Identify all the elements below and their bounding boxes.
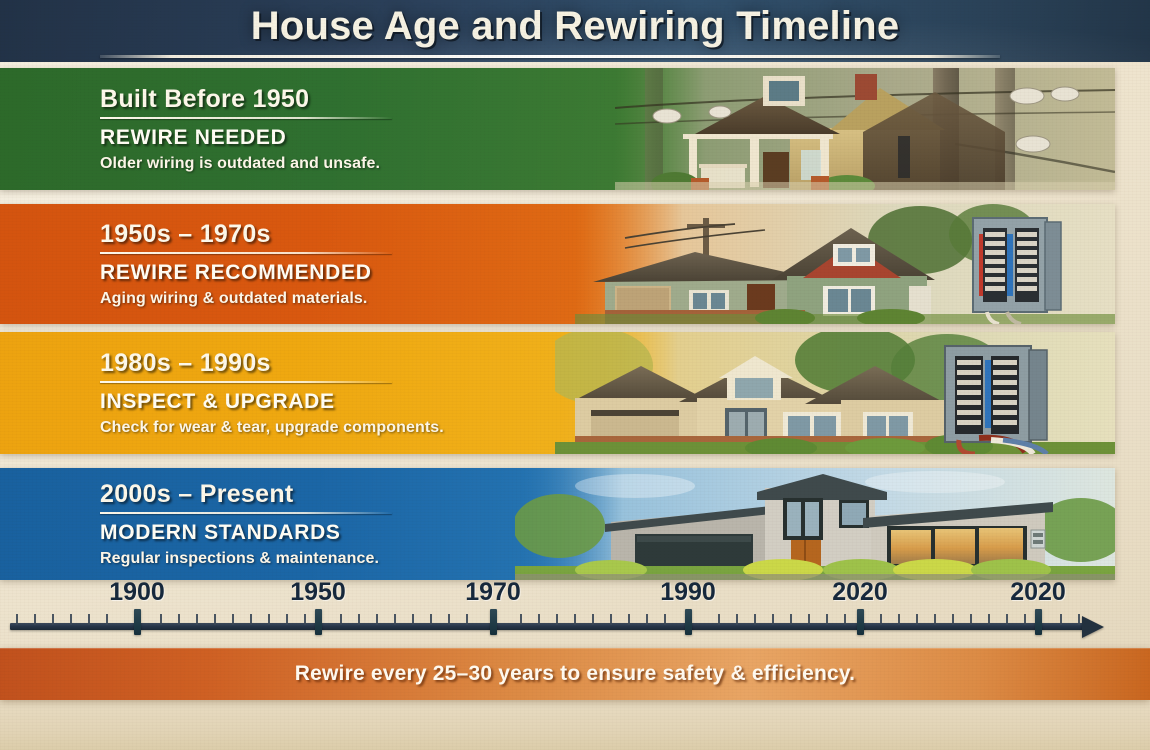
- band-text-pre-1950: Built Before 1950 REWIRE NEEDED Older wi…: [100, 68, 620, 190]
- axis-tick-minor: [52, 614, 54, 625]
- axis-arrow-icon: [1082, 616, 1104, 638]
- band-era-label: Built Before 1950: [100, 85, 620, 114]
- axis-tick-minor: [610, 614, 612, 625]
- axis-tick-minor: [340, 614, 342, 625]
- axis-tick-minor: [880, 614, 882, 625]
- timeline-band-2000s-present: 2000s – Present MODERN STANDARDS Regular…: [0, 468, 1115, 580]
- axis-tick-minor: [286, 614, 288, 625]
- axis-tick-minor: [376, 614, 378, 625]
- band-era-underline: [100, 117, 392, 119]
- axis-tick-minor: [1024, 614, 1026, 625]
- axis-tick-minor: [934, 614, 936, 625]
- axis-tick-major: [134, 609, 141, 635]
- band-status-label: REWIRE RECOMMENDED: [100, 261, 620, 285]
- axis-tick-minor: [70, 614, 72, 625]
- axis-tick-minor: [988, 614, 990, 625]
- title-underline: [100, 55, 1000, 58]
- header-bar: House Age and Rewiring Timeline: [0, 0, 1150, 62]
- axis-tick-minor: [520, 614, 522, 625]
- axis-tick-minor: [646, 614, 648, 625]
- footer-banner: Rewire every 25–30 years to ensure safet…: [0, 648, 1150, 700]
- axis-tick-minor: [916, 614, 918, 625]
- axis-tick-label: 2020: [832, 578, 888, 607]
- band-text-1980s-1990s: 1980s – 1990s INSPECT & UPGRADE Check fo…: [100, 332, 620, 454]
- axis-tick-minor: [844, 614, 846, 625]
- band-era-label: 1980s – 1990s: [100, 349, 620, 378]
- axis-tick-minor: [1078, 614, 1080, 625]
- band-note-label: Regular inspections & maintenance.: [100, 550, 620, 568]
- band-note-label: Aging wiring & outdated materials.: [100, 290, 620, 308]
- axis-tick-minor: [88, 614, 90, 625]
- axis-tick-major: [1035, 609, 1042, 635]
- band-era-label: 1950s – 1970s: [100, 220, 620, 249]
- axis-tick-minor: [412, 614, 414, 625]
- axis-tick-minor: [952, 614, 954, 625]
- axis-tick-minor: [898, 614, 900, 625]
- axis-tick-minor: [430, 614, 432, 625]
- axis-tick-label: 1900: [109, 578, 165, 607]
- axis-tick-minor: [448, 614, 450, 625]
- axis-tick-minor: [196, 614, 198, 625]
- axis-tick-minor: [790, 614, 792, 625]
- band-status-label: INSPECT & UPGRADE: [100, 390, 620, 414]
- axis-tick-minor: [250, 614, 252, 625]
- axis-tick-major: [685, 609, 692, 635]
- axis-tick-minor: [1060, 614, 1062, 625]
- axis-tick-minor: [34, 614, 36, 625]
- axis-tick-minor: [574, 614, 576, 625]
- timeline-band-pre-1950: Built Before 1950 REWIRE NEEDED Older wi…: [0, 68, 1115, 190]
- axis-tick-label: 1970: [465, 578, 521, 607]
- band-text-2000s-present: 2000s – Present MODERN STANDARDS Regular…: [100, 468, 620, 580]
- timeline-axis: 190019501970199020202020: [0, 580, 1150, 648]
- axis-tick-minor: [160, 614, 162, 625]
- timeline-band-1950s-1970s: 1950s – 1970s REWIRE RECOMMENDED Aging w…: [0, 204, 1115, 324]
- axis-tick-minor: [466, 614, 468, 625]
- axis-tick-minor: [358, 614, 360, 625]
- axis-tick-minor: [556, 614, 558, 625]
- axis-tick-minor: [268, 614, 270, 625]
- band-status-label: MODERN STANDARDS: [100, 521, 620, 545]
- axis-tick-minor: [232, 614, 234, 625]
- axis-tick-minor: [664, 614, 666, 625]
- bottom-paper-strip: [0, 700, 1150, 750]
- band-era-underline: [100, 252, 392, 254]
- axis-tick-minor: [1006, 614, 1008, 625]
- axis-tick-label: 1990: [660, 578, 716, 607]
- axis-tick-major: [315, 609, 322, 635]
- axis-tick-minor: [628, 614, 630, 625]
- axis-tick-minor: [808, 614, 810, 625]
- band-text-1950s-1970s: 1950s – 1970s REWIRE RECOMMENDED Aging w…: [100, 204, 620, 324]
- axis-tick-minor: [214, 614, 216, 625]
- axis-tick-minor: [754, 614, 756, 625]
- axis-tick-minor: [394, 614, 396, 625]
- infographic-root: House Age and Rewiring Timeline: [0, 0, 1150, 750]
- axis-tick-minor: [538, 614, 540, 625]
- axis-tick-major: [857, 609, 864, 635]
- band-status-label: REWIRE NEEDED: [100, 126, 620, 150]
- axis-tick-minor: [304, 614, 306, 625]
- page-title: House Age and Rewiring Timeline: [0, 4, 1150, 49]
- axis-line: [10, 623, 1085, 630]
- axis-tick-minor: [772, 614, 774, 625]
- axis-tick-label: 2020: [1010, 578, 1066, 607]
- axis-tick-label: 1950: [290, 578, 346, 607]
- axis-tick-major: [490, 609, 497, 635]
- band-era-underline: [100, 381, 392, 383]
- axis-tick-minor: [826, 614, 828, 625]
- axis-tick-minor: [736, 614, 738, 625]
- axis-tick-minor: [718, 614, 720, 625]
- axis-tick-minor: [970, 614, 972, 625]
- band-era-underline: [100, 512, 392, 514]
- axis-tick-minor: [178, 614, 180, 625]
- band-note-label: Check for wear & tear, upgrade component…: [100, 419, 620, 437]
- axis-tick-minor: [106, 614, 108, 625]
- band-era-label: 2000s – Present: [100, 480, 620, 509]
- axis-tick-minor: [16, 614, 18, 625]
- footer-message: Rewire every 25–30 years to ensure safet…: [295, 662, 855, 686]
- timeline-band-1980s-1990s: 1980s – 1990s INSPECT & UPGRADE Check fo…: [0, 332, 1115, 454]
- axis-tick-minor: [592, 614, 594, 625]
- band-note-label: Older wiring is outdated and unsafe.: [100, 155, 620, 173]
